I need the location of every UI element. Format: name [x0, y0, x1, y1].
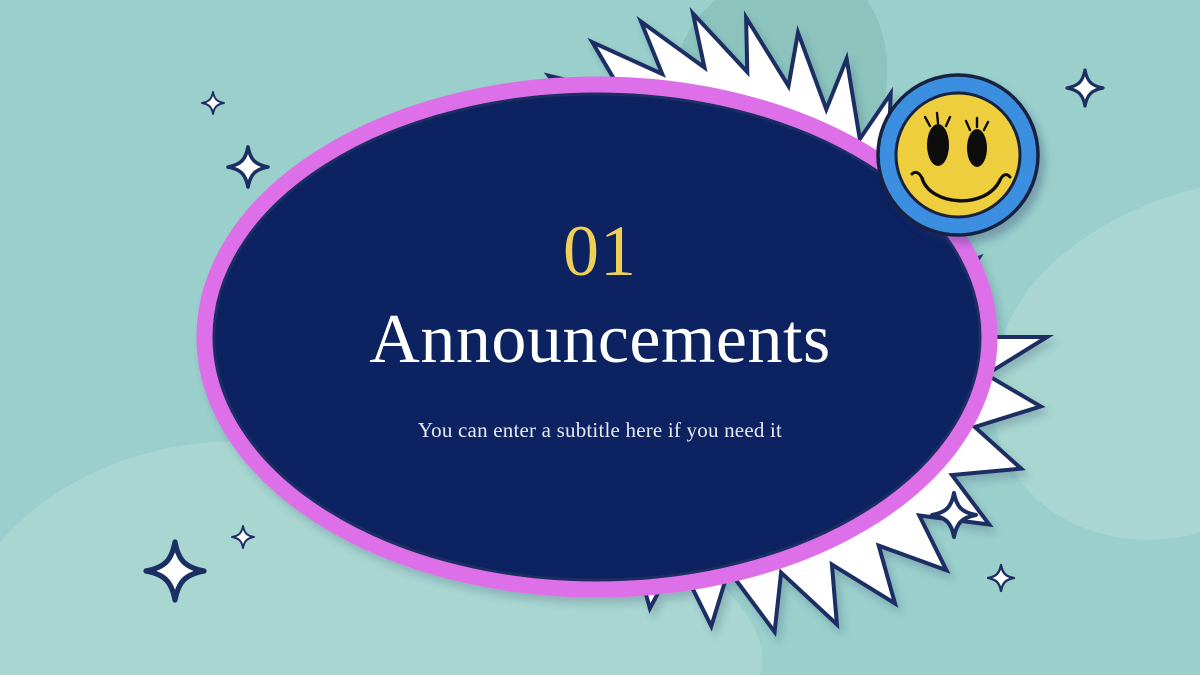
sparkle-icon	[1067, 70, 1103, 106]
smiley-left-eye	[927, 124, 949, 166]
navy-core-ellipse	[214, 94, 980, 580]
slide-canvas: 01 Announcements You can enter a subtitl…	[0, 0, 1200, 675]
smiley-face-sticker[interactable]	[878, 75, 1038, 235]
smiley-face-disc	[896, 93, 1020, 217]
decoration-layer	[0, 0, 1200, 675]
sparkle-icon	[988, 565, 1014, 591]
sparkle-icon	[146, 542, 204, 600]
sparkle-icon	[232, 526, 254, 548]
sparkle-icon	[202, 92, 224, 114]
sparkle-icon	[228, 147, 268, 187]
smiley-right-eye	[967, 129, 987, 167]
